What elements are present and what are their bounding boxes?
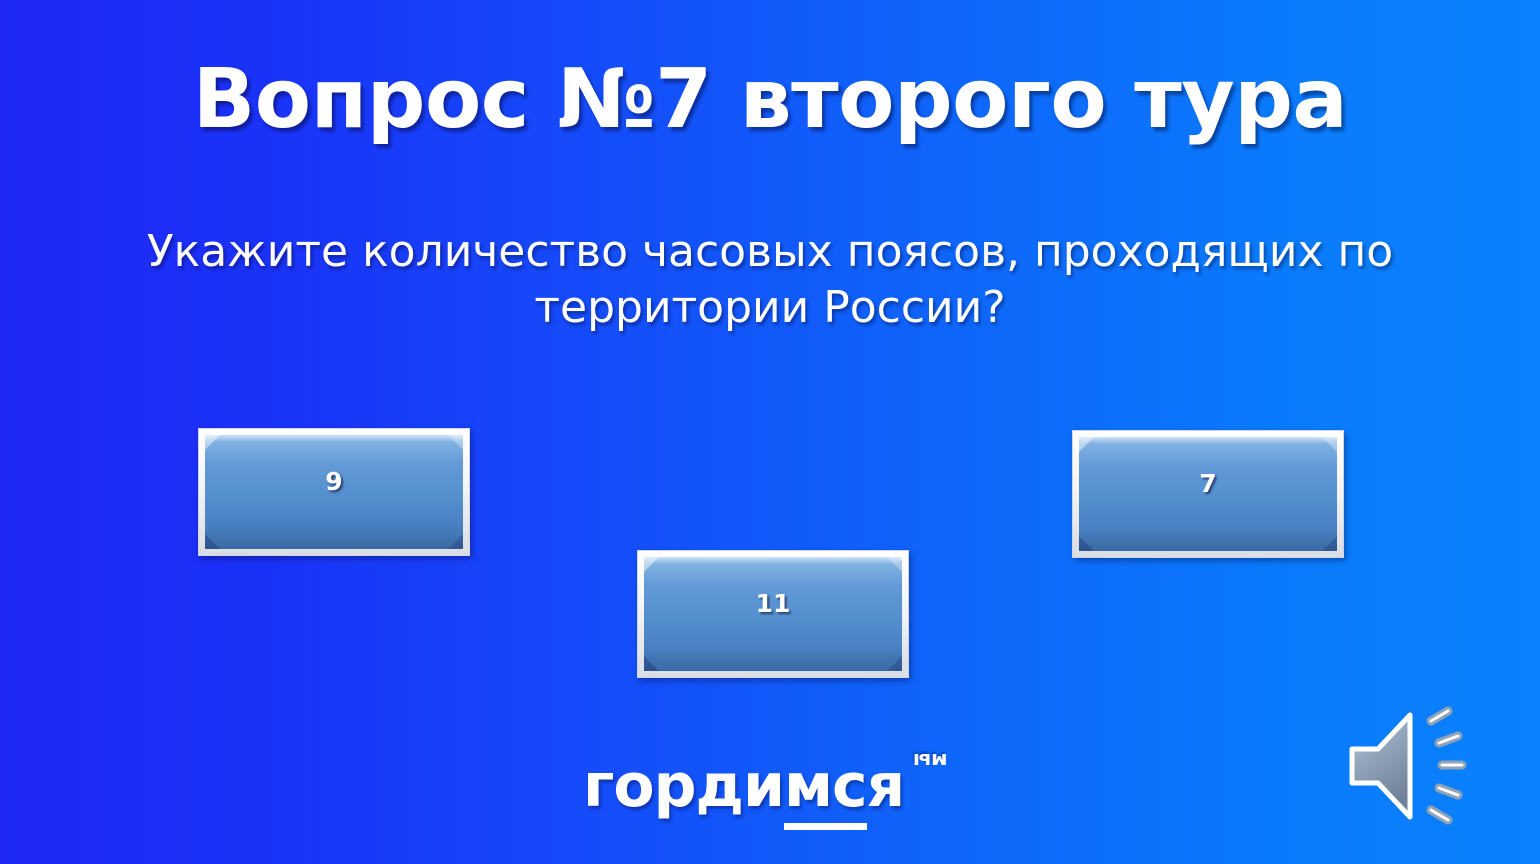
answer-option-11[interactable]: 11 <box>637 550 909 678</box>
answer-face: 11 <box>644 557 902 671</box>
brand-logo-part-underlined: мс <box>784 751 867 830</box>
speaker-icon[interactable] <box>1340 697 1510 837</box>
brand-logo-part-1: горди <box>583 751 784 821</box>
answer-face: 7 <box>1079 437 1337 551</box>
speaker-cone <box>1352 715 1410 817</box>
answer-face: 9 <box>205 435 463 549</box>
answer-option-7[interactable]: 7 <box>1072 430 1344 558</box>
brand-logo-superscript: мы <box>913 749 947 773</box>
speaker-waves <box>1431 711 1462 820</box>
answer-option-9[interactable]: 9 <box>198 428 470 556</box>
brand-logo: гордимся мы <box>583 752 963 832</box>
brand-logo-wordmark: гордимся <box>583 752 904 820</box>
question-text: Укажите количество часовых поясов, прохо… <box>96 224 1444 336</box>
answer-label: 11 <box>644 589 902 618</box>
quiz-slide: Вопрос №7 второго тура Укажите количеств… <box>0 0 1540 864</box>
answer-label: 7 <box>1079 469 1337 498</box>
brand-logo-part-2: я <box>867 751 905 821</box>
answer-label: 9 <box>205 467 463 496</box>
page-title: Вопрос №7 второго тура <box>0 52 1540 148</box>
